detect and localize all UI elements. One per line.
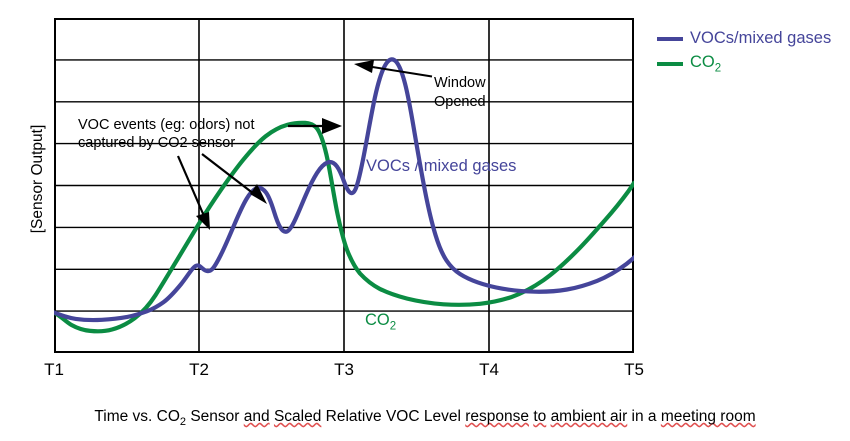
annotation-window-opened: Window Opened [434, 74, 486, 112]
caption-sp-5: ambient air [551, 408, 628, 425]
x-tick-t4: T4 [469, 360, 509, 380]
caption-sp-4: to [533, 408, 546, 425]
voc-events-arrow-down-left [178, 156, 210, 230]
legend-item-voc[interactable]: VOCs/mixed gases [657, 26, 847, 51]
window-opened-arrow [354, 60, 432, 77]
x-tick-t5: T5 [614, 360, 654, 380]
caption-part-7: in a [627, 408, 661, 425]
y-axis-title: [Sensor Output] [29, 89, 47, 269]
series-label-co2: CO2 [365, 311, 396, 332]
caption-part-4: Relative VOC Level [321, 408, 465, 425]
legend-label-voc: VOCs/mixed gases [690, 29, 831, 48]
legend-label-co2: CO2 [690, 53, 721, 74]
chart-figure: [Sensor Output] [0, 0, 850, 441]
caption-sp-3: response [465, 408, 529, 425]
legend-line-swatch-icon [657, 37, 683, 41]
caption-sp-6: meeting room [661, 408, 756, 425]
voc-events-arrow-down-right [202, 154, 267, 204]
caption-sp-1: and [244, 408, 270, 425]
caption-sp-2: Scaled [274, 408, 321, 425]
x-tick-t2: T2 [179, 360, 219, 380]
legend-line-swatch-icon [657, 62, 683, 66]
series-label-voc: VOCs / mixed gases [366, 157, 516, 176]
annotation-voc-events: VOC events (eg: odors) not captured by C… [78, 116, 255, 152]
voc-events-arrow-right [288, 118, 342, 134]
caption-part-1: Time vs. CO [94, 408, 180, 425]
figure-caption: Time vs. CO2 Sensor and Scaled Relative … [0, 408, 850, 428]
chart-canvas [54, 18, 634, 353]
x-tick-t3: T3 [324, 360, 364, 380]
legend-item-co2[interactable]: CO2 [657, 51, 847, 76]
plot-area: VOCs / mixed gases CO2 VOC events (eg: o… [54, 18, 634, 353]
caption-part-2: Sensor [186, 408, 244, 425]
x-tick-t1: T1 [34, 360, 74, 380]
chart-legend: VOCs/mixed gases CO2 [657, 26, 847, 76]
